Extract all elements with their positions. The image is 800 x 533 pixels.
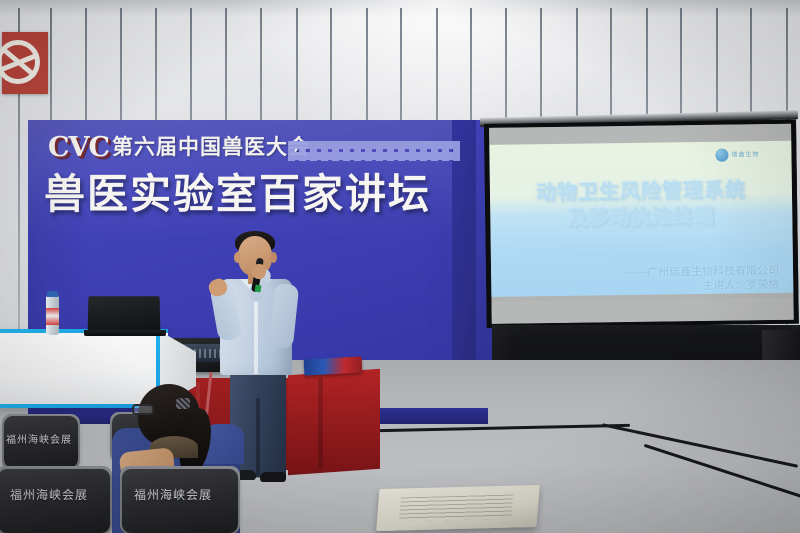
presenter-shoe xyxy=(260,472,286,482)
attendee-hair-clip xyxy=(176,398,190,409)
screen-frame: 瑞鑫生物 动物卫生风险管理系统 及移动执法终端 ——广州瑞鑫生物科技有限公司 主… xyxy=(484,120,799,328)
red-draped-table-right xyxy=(288,369,380,475)
conference-name: 第六届中国兽医大会 xyxy=(112,137,310,158)
slide-company-logo: 瑞鑫生物 xyxy=(715,146,777,163)
no-smoking-sign xyxy=(2,32,48,94)
cvc-logo: CVC xyxy=(48,134,109,161)
attendee-glasses xyxy=(132,404,154,415)
slide-surface: 瑞鑫生物 动物卫生风险管理系统 及移动执法终端 ——广州瑞鑫生物科技有限公司 主… xyxy=(489,124,794,324)
laptop-screen xyxy=(88,296,161,334)
chair-back-text: 福州海峡会展 xyxy=(6,434,72,448)
projection-screen: 瑞鑫生物 动物卫生风险管理系统 及移动执法终端 ——广州瑞鑫生物科技有限公司 主… xyxy=(478,118,800,330)
logo-text: 瑞鑫生物 xyxy=(731,151,759,158)
bottle-cap xyxy=(47,291,58,297)
cardboard-box-print xyxy=(399,495,513,522)
laptop-base xyxy=(84,330,166,336)
chair-back-text: 福州海峡会展 xyxy=(10,488,88,502)
slide-title-line2: 及移动执法终端 xyxy=(490,202,792,232)
chair-back-text: 福州海峡会展 xyxy=(134,488,212,502)
microphone-green-band xyxy=(254,285,261,293)
conference-photo: CVC 第六届中国兽医大会 兽医实验室百家讲坛 瑞鑫生物 动物卫生风险管理系统 … xyxy=(0,0,800,533)
red-drape-fold xyxy=(318,378,323,468)
banner-dot-pattern xyxy=(288,141,460,161)
bottle-label xyxy=(46,308,59,325)
logo-orb-icon xyxy=(715,148,728,161)
slide-title: 动物卫生风险管理系统 及移动执法终端 xyxy=(490,176,793,232)
slide-presenter: 主讲人：罗荣格 xyxy=(625,278,779,294)
banner-title: 兽医实验室百家讲坛 xyxy=(44,172,431,216)
product-box xyxy=(304,356,363,375)
presenter-leg-gap xyxy=(256,398,260,478)
slide-bottom-band xyxy=(491,298,793,324)
slide-subtitle: ——广州瑞鑫生物科技有限公司 主讲人：罗荣格 xyxy=(625,264,779,294)
presenter-ear xyxy=(234,252,241,263)
presenter-ear xyxy=(270,252,277,263)
presenter-shirt-placket xyxy=(254,292,258,374)
